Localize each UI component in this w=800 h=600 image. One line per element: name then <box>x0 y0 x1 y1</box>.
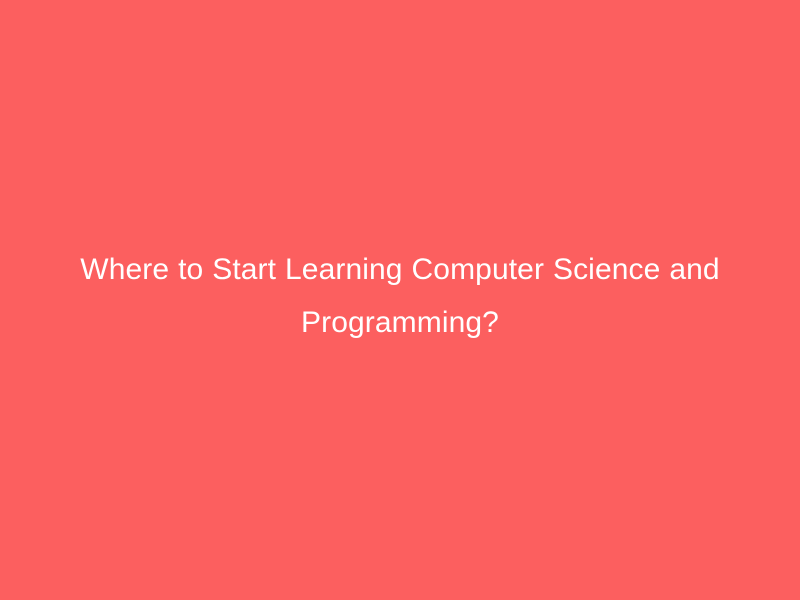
headline-block: Where to Start Learning Computer Science… <box>50 243 750 349</box>
hero-banner: Where to Start Learning Computer Science… <box>0 0 800 600</box>
page-title: Where to Start Learning Computer Science… <box>62 243 738 349</box>
